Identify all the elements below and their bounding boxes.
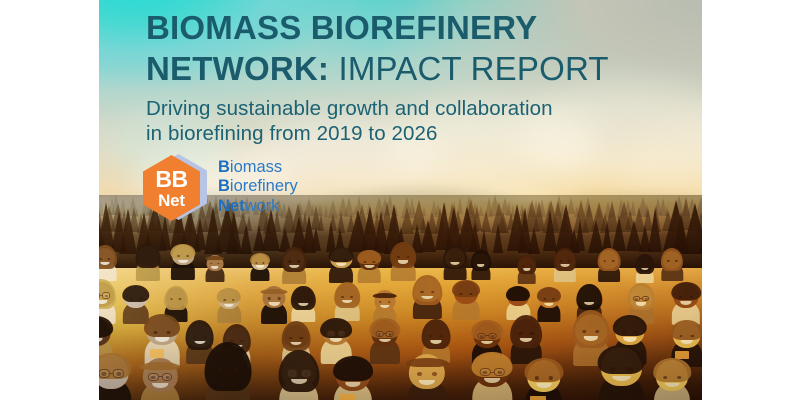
- hexagon-logo-mark: BB Net: [143, 152, 207, 222]
- crowd-person: [598, 347, 644, 400]
- crowd-person: [510, 319, 541, 364]
- crowd-person: [654, 360, 691, 400]
- crowd-person: [525, 360, 563, 400]
- crowd-person: [261, 286, 288, 323]
- name-badge: [530, 396, 546, 400]
- crowd-person: [537, 288, 561, 321]
- crowd-person: [635, 257, 654, 283]
- group-photo: [99, 195, 702, 400]
- crowd-person: [472, 354, 512, 400]
- crowd-person: [672, 284, 701, 325]
- crowd-person: [140, 359, 180, 400]
- hexagon-label-net: Net: [158, 192, 185, 209]
- crowd-person: [250, 254, 269, 281]
- crowd-person: [171, 245, 196, 280]
- crowd-person: [205, 255, 224, 282]
- name-badge: [339, 394, 355, 400]
- hexagon-label-bb: BB: [155, 168, 187, 191]
- crowd-person: [391, 246, 416, 281]
- crowd-person: [333, 358, 372, 400]
- subtitle: Driving sustainable growth and collabora…: [146, 96, 702, 146]
- wordmark-line-biomass: Biomass: [218, 158, 298, 178]
- crowd-person: [661, 251, 683, 282]
- crowd-person: [406, 354, 448, 400]
- crowd-person: [335, 285, 360, 320]
- wordmark-line-network: Network: [218, 197, 298, 217]
- crowd-person: [99, 355, 131, 400]
- logo-wordmark: Biomass Biorefinery Network: [218, 158, 298, 217]
- wordmark-line-biorefinery: Biorefinery: [218, 177, 298, 197]
- bbnet-logo: BB Net Biomass Biorefinery Network: [143, 152, 298, 222]
- hexagon-label: BB Net: [143, 155, 200, 221]
- subtitle-line-1: Driving sustainable growth and collabora…: [146, 96, 702, 121]
- crowd-person: [291, 289, 315, 323]
- page-title-line-1: BIOMASS BIOREFINERY: [146, 8, 702, 48]
- crowd-person: [205, 348, 251, 400]
- crowd-person: [554, 250, 577, 282]
- name-badge: [150, 349, 165, 358]
- report-cover-page: BIOMASS BIOREFINERY NETWORK: IMPACT REPO…: [0, 0, 800, 400]
- page-title-line-2: NETWORK: IMPACT REPORT: [146, 48, 702, 89]
- crowd-person: [598, 250, 620, 281]
- crowd-person: [329, 248, 354, 282]
- crowd-person: [217, 289, 241, 323]
- crowd-person: [413, 278, 442, 319]
- page-title-line-2-light: IMPACT REPORT: [338, 50, 608, 87]
- crowd-person: [471, 253, 491, 280]
- crowd-person: [517, 257, 536, 284]
- crowd-person: [358, 251, 381, 283]
- crowd-person: [282, 250, 306, 284]
- name-badge: [675, 351, 688, 359]
- headline-block: BIOMASS BIOREFINERY NETWORK: IMPACT REPO…: [146, 8, 702, 146]
- crowd-person: [99, 248, 117, 281]
- crowd-person: [369, 320, 400, 364]
- page-title-line-2-strong: NETWORK:: [146, 50, 329, 87]
- cover-image: BIOMASS BIOREFINERY NETWORK: IMPACT REPO…: [99, 0, 702, 400]
- crowd-person: [279, 355, 319, 400]
- crowd-person: [443, 248, 466, 281]
- crowd-person: [136, 246, 161, 281]
- crowd-person: [452, 281, 479, 320]
- subtitle-line-2: in biorefining from 2019 to 2026: [146, 121, 702, 146]
